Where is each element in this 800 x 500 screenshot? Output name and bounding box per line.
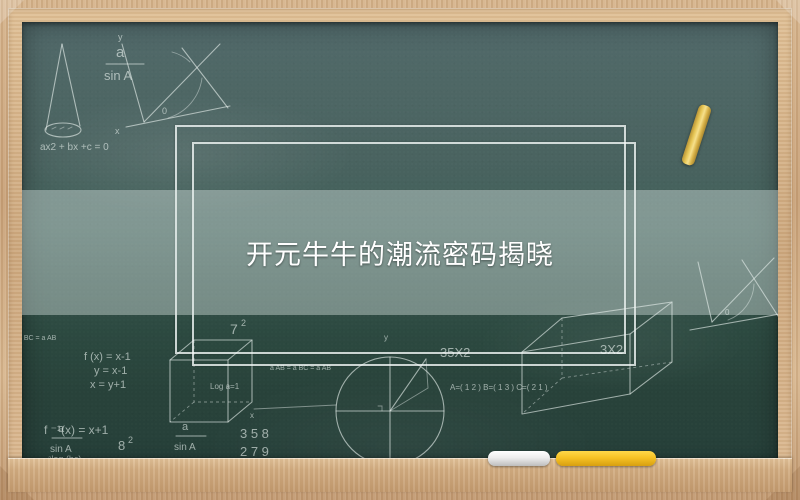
screenshot-stage: a sin A ax2 + bx +c = 0 y x 0 [0, 0, 800, 500]
white-chalk-icon [488, 451, 550, 466]
chalkboard: a sin A ax2 + bx +c = 0 y x 0 [22, 22, 778, 467]
chalk-ledge [8, 458, 792, 492]
page-title: 开元牛牛的潮流密码揭晓 [22, 190, 778, 315]
yellow-chalk-icon [556, 451, 656, 466]
